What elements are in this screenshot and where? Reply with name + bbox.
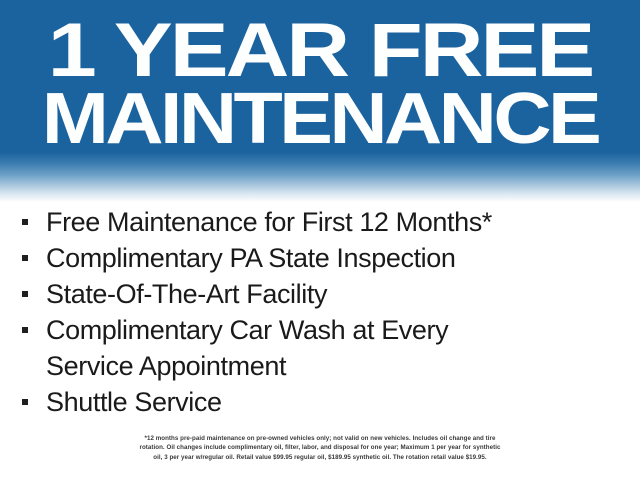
list-item: Complimentary PA State Inspection [0, 240, 640, 276]
bullet-square-icon [22, 327, 28, 333]
list-item-continuation: Service Appointment [0, 348, 640, 384]
headline-line-2: MAINTENANCE [0, 86, 640, 152]
disclaimer: *12 months pre-paid maintenance on pre-o… [0, 434, 640, 462]
list-item-label: Complimentary Car Wash at Every [46, 312, 448, 348]
list-item: Shuttle Service [0, 384, 640, 420]
bullet-square-icon [22, 255, 28, 261]
bullet-square-icon [22, 291, 28, 297]
bullet-square-icon [22, 399, 28, 405]
list-item: State-Of-The-Art Facility [0, 276, 640, 312]
bullet-square-icon [22, 219, 28, 225]
list-item: Complimentary Car Wash at Every [0, 312, 640, 348]
feature-list: Free Maintenance for First 12 Months* Co… [0, 204, 640, 420]
banner-gradient-fade [0, 152, 640, 202]
list-item: Free Maintenance for First 12 Months* [0, 204, 640, 240]
banner-headline: 1 YEAR FREE MAINTENANCE [0, 0, 640, 152]
list-item-label: Free Maintenance for First 12 Months* [46, 204, 492, 240]
promo-banner: 1 YEAR FREE MAINTENANCE [0, 0, 640, 202]
list-item-label: State-Of-The-Art Facility [46, 276, 327, 312]
list-item-label: Shuttle Service [46, 384, 222, 420]
list-item-label: Complimentary PA State Inspection [46, 240, 456, 276]
list-item-label: Service Appointment [46, 348, 286, 384]
disclaimer-line: oil, 3 per year w/regular oil. Retail va… [0, 453, 640, 462]
headline-line-1: 1 YEAR FREE [0, 0, 640, 86]
bullet-spacer [22, 363, 28, 369]
disclaimer-line: rotation. Oil changes include compliment… [0, 443, 640, 452]
disclaimer-line: *12 months pre-paid maintenance on pre-o… [0, 434, 640, 443]
